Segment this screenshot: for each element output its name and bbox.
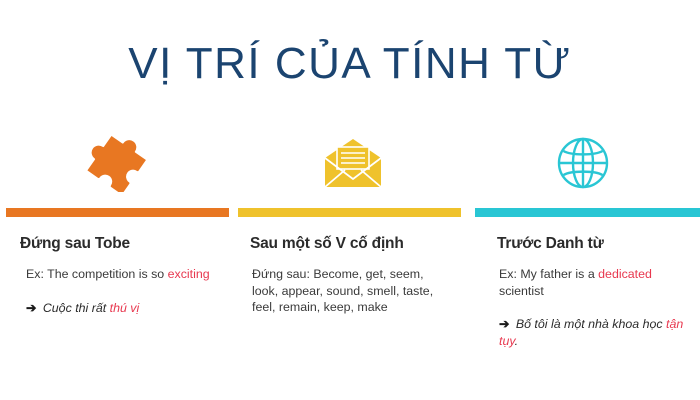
column-heading: Đứng sau Tobe: [20, 235, 235, 253]
column-example: Ex: The competition is so exciting: [26, 266, 216, 283]
accent-bar-yellow: [238, 208, 461, 217]
column-heading: Sau một số V cố định: [250, 235, 470, 253]
page-title: VỊ TRÍ CỦA TÍNH TỪ: [0, 38, 700, 90]
column-truoc-danh-tu: Trước Danh từ Ex: My father is a dedicat…: [470, 132, 700, 350]
puzzle-piece-icon: [6, 132, 235, 194]
column-example: Ex: My father is a dedicated scientist: [499, 266, 689, 299]
globe-icon: [475, 132, 700, 194]
accent-bar-orange: [6, 208, 229, 217]
example-highlight: dedicated: [598, 267, 652, 281]
example-text: Ex: The competition is so: [26, 267, 168, 281]
translation-suffix: .: [515, 334, 518, 348]
accent-bar-cyan: [475, 208, 700, 217]
translation-text: Bố tôi là một nhà khoa học: [512, 317, 666, 331]
column-heading: Trước Danh từ: [497, 235, 700, 253]
translation-text: Cuộc thi rất: [39, 301, 109, 315]
translation-highlight: thú vị: [110, 301, 140, 315]
slide-canvas: VỊ TRÍ CỦA TÍNH TỪ Đứng sau Tobe Ex: The…: [0, 0, 700, 400]
columns-container: Đứng sau Tobe Ex: The competition is so …: [0, 132, 700, 350]
column-translation: ➔ Bố tôi là một nhà khoa học tận tụy.: [499, 316, 694, 350]
arrow-icon: ➔: [499, 317, 509, 331]
example-highlight: exciting: [168, 267, 210, 281]
example-suffix: scientist: [499, 284, 544, 298]
column-sau-mot-so-v-co-dinh: Sau một số V cố định Đứng sau: Become, g…: [235, 132, 470, 316]
example-text: Ex: My father is a: [499, 267, 598, 281]
arrow-icon: ➔: [26, 301, 36, 315]
column-dung-sau-tobe: Đứng sau Tobe Ex: The competition is so …: [0, 132, 235, 317]
example-text: Đứng sau: Become, get, seem, look, appea…: [252, 267, 433, 314]
column-translation: ➔ Cuộc thi rất thú vị: [26, 300, 221, 317]
envelope-icon: [238, 132, 470, 194]
column-example: Đứng sau: Become, get, seem, look, appea…: [252, 266, 452, 316]
